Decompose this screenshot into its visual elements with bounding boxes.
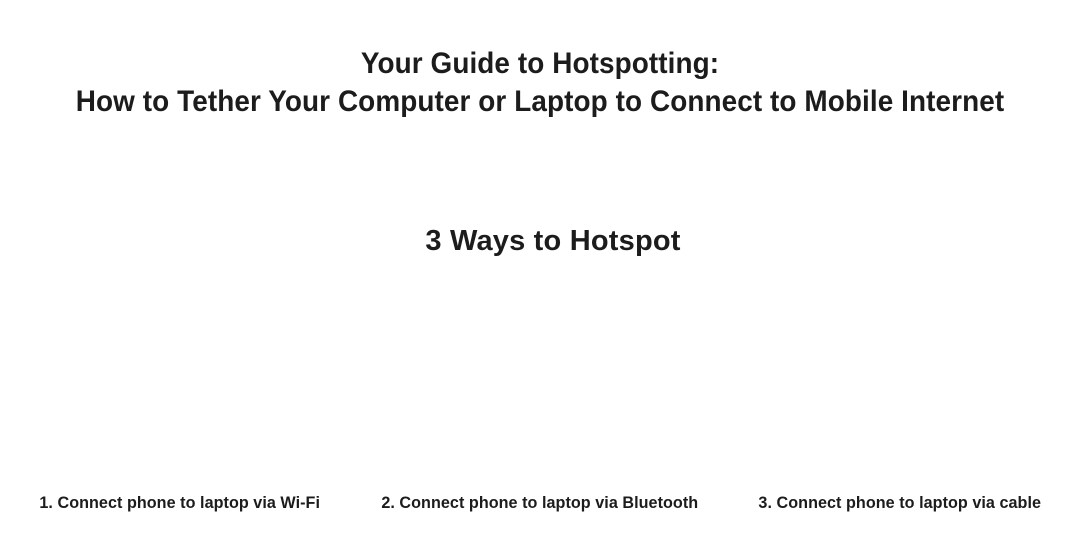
illustration-area (0, 280, 1080, 475)
page-title: Your Guide to Hotspotting: How to Tether… (0, 45, 1080, 121)
subtitle-heading: 3 Ways to Hotspot (425, 222, 680, 260)
step-caption-3-label: 3. Connect phone to laptop via cable (759, 491, 1042, 515)
step-caption-1-label: 1. Connect phone to laptop via Wi-Fi (40, 491, 321, 515)
step-captions: 1. Connect phone to laptop via Wi-Fi 2. … (0, 488, 1080, 518)
step-caption-2-label: 2. Connect phone to laptop via Bluetooth (382, 491, 699, 515)
cable-tether-illustration (720, 280, 1080, 475)
step-caption-2: 2. Connect phone to laptop via Bluetooth (360, 488, 720, 518)
bluetooth-tether-illustration (360, 280, 720, 475)
page-title-line-1: Your Guide to Hotspotting: (38, 45, 1042, 83)
step-caption-1: 1. Connect phone to laptop via Wi-Fi (0, 488, 360, 518)
step-caption-3: 3. Connect phone to laptop via cable (720, 488, 1080, 518)
subtitle-container: 3 Ways to Hotspot (0, 222, 1080, 260)
page-title-line-2: How to Tether Your Computer or Laptop to… (38, 83, 1042, 121)
infographic-page: Your Guide to Hotspotting: How to Tether… (0, 0, 1080, 552)
wifi-tether-illustration (0, 280, 360, 475)
